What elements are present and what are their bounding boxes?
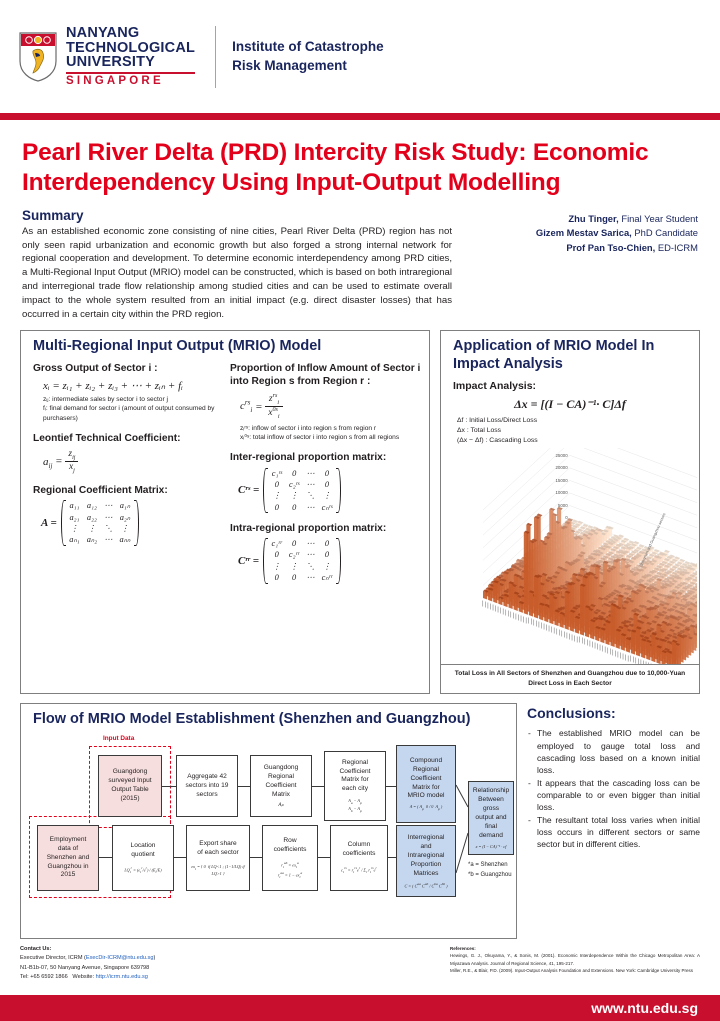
chart-x-tick-label: | <box>515 614 517 620</box>
impact-analysis-subheading: Impact Analysis: <box>441 378 699 392</box>
legend-a: *a = Shenzhen <box>468 861 512 871</box>
chart-y-tick-label: 15000 <box>544 478 568 483</box>
chart-x-tick-label: | <box>530 619 532 625</box>
chart-x-tick-label: | <box>487 603 489 609</box>
author-name: Zhu Tinger, <box>568 213 618 224</box>
chart-x-tick-label: | <box>508 611 510 617</box>
logo-divider-rule <box>66 72 195 74</box>
conclusions-heading: Conclusions: <box>527 705 700 721</box>
legend-b: *b = Guangzhou <box>468 871 512 881</box>
chart-x-tick-label: | <box>622 654 624 660</box>
chart-x-tick-label: | <box>587 640 589 646</box>
chart-x-tick-label: | <box>543 624 545 630</box>
connector <box>388 857 396 858</box>
note-initial-loss: Δf : Initial Loss/Direct Loss <box>457 416 699 426</box>
chart-x-tick-label: | <box>520 616 522 622</box>
regional-matrix: A = a₁₁a₁₂⋯a₁ₙ a₂₁a₂₂⋯a₂ₙ ⋮⋮⋱⋮ aₙ₁aₙ₂⋯aₙ… <box>33 500 224 545</box>
impact-analysis-notes: Δf : Initial Loss/Direct Loss Δx : Total… <box>441 416 699 447</box>
chart-x-tick-label: | <box>497 607 499 613</box>
gross-output-heading: Gross Output of Sector i : <box>33 362 224 375</box>
poster-header: NANYANG TECHNOLOGICAL UNIVERSITY SINGAPO… <box>0 0 720 113</box>
chart-x-tick-label: | <box>615 651 617 657</box>
summary-block: Summary As an established economic zone … <box>22 208 452 322</box>
chart-y-tick-label: 10000 <box>544 490 568 495</box>
chart-x-tick-label: | <box>490 604 492 610</box>
chart-x-tick-label: | <box>523 617 525 623</box>
connector <box>99 857 112 858</box>
chart-x-tick-label: | <box>518 615 520 621</box>
inter-regional-matrix-block: Inter-regional proportion matrix: Cʳˢ = … <box>230 451 421 513</box>
chart-x-tick-label: | <box>632 657 634 663</box>
mrio-model-panel: Multi-Regional Input Output (MRIO) Model… <box>20 330 430 694</box>
chart-y-tick-label: 20000 <box>544 465 568 470</box>
summary-heading: Summary <box>22 208 452 223</box>
ntu-logo: NANYANG TECHNOLOGICAL UNIVERSITY SINGAPO… <box>18 26 195 87</box>
chart-x-tick-label: | <box>528 618 530 624</box>
intra-matrix-label: Cʳʳ = <box>238 555 259 567</box>
leontief-heading: Leontief Technical Coefficient: <box>33 432 224 445</box>
list-item: It appears that the cascading loss can b… <box>527 777 700 813</box>
chart-x-tick-label: | <box>643 661 645 664</box>
references-block: References: Hewings, G. J., Okuyama, Y.,… <box>450 945 700 982</box>
chart-x-tick-label: | <box>556 629 558 635</box>
contact-label: Contact Us: <box>20 945 450 954</box>
contact-line-2: N1-B1b-07, 50 Nanyang Avenue, Singapore … <box>20 964 450 973</box>
chart-x-tick-label: | <box>566 633 568 639</box>
flow-legend: *a = Shenzhen *b = Guangzhou <box>468 861 512 880</box>
chart-x-tick-label: | <box>548 626 550 632</box>
author-role: PhD Candidate <box>632 227 698 238</box>
contact-line-3: Tel: +65 6592 1866 Website: http://icrm.… <box>20 973 450 982</box>
author-role: Final Year Student <box>619 213 698 224</box>
regional-matrix-heading: Regional Coefficient Matrix: <box>33 484 224 497</box>
chart-x-tick-label: | <box>510 612 512 618</box>
flow-box-export-share: Export share of each sector exi = { 0 if… <box>186 825 250 891</box>
gross-output-block: Gross Output of Sector i : xᵢ = zᵢ₁ + zᵢ… <box>33 362 224 423</box>
reference-entry: Miller, R.E., & Blair, P.D. (2009). Inpu… <box>450 967 700 974</box>
intra-matrix-heading: Intra-regional proportion matrix: <box>230 522 421 535</box>
chart-x-tick-label: | <box>536 621 538 627</box>
author-role: ED-ICRM <box>655 242 698 253</box>
author-name: Prof Pan Tso-Chien, <box>566 242 655 253</box>
ntu-wordmark: NANYANG TECHNOLOGICAL UNIVERSITY SINGAPO… <box>66 26 195 87</box>
chart-x-tick-label: | <box>638 659 640 664</box>
chart-x-tick-label: | <box>589 641 591 647</box>
bottom-row: Flow of MRIO Model Establishment (Shenzh… <box>0 694 720 939</box>
institute-name: Institute of Catastrophe Risk Management <box>232 38 384 74</box>
chart-y-tick-label: 0 <box>544 515 568 520</box>
inflow-block: Proportion of Inflow Amount of Sector i … <box>230 362 421 442</box>
application-panel-heading: Application of MRIO Model In Impact Anal… <box>441 331 699 377</box>
flow-panel-heading: Flow of MRIO Model Establishment (Shenzh… <box>21 704 516 733</box>
inflow-note-1: zᵢʳˢ: inflow of sector i into region s f… <box>230 424 421 433</box>
contact-email-link[interactable]: ExecDir-ICRM@ntu.edu.sg <box>86 955 154 961</box>
leontief-equation: aij = zij xj <box>33 449 224 475</box>
logo-line-2: TECHNOLOGICAL <box>66 41 195 56</box>
chart-caption: Total Loss in All Sectors of Shenzhen an… <box>441 664 699 693</box>
inflow-note-2: xᵢ⁰ˢ: total inflow of sector i into regi… <box>230 433 421 442</box>
chart-x-tick-label: | <box>571 635 573 641</box>
chart-x-tick-label: | <box>592 642 594 648</box>
chart-y-tick-label: 5000 <box>544 503 568 508</box>
chart-x-tick-label: | <box>553 628 555 634</box>
chart-x-tick-label: | <box>597 644 599 650</box>
chart-x-tick-label: | <box>581 638 583 644</box>
chart-x-tick-label: | <box>579 637 581 643</box>
chart-x-tick-label: | <box>495 606 497 612</box>
note-total-loss: Δx : Total Loss <box>457 426 699 436</box>
chart-x-tick-label: | <box>485 602 487 608</box>
ntu-crest-icon <box>18 31 58 83</box>
author-name: Gizem Mestav Sarica, <box>536 227 632 238</box>
flow-panel: Flow of MRIO Model Establishment (Shenzh… <box>20 703 517 939</box>
inflow-heading: Proportion of Inflow Amount of Sector i … <box>230 362 421 389</box>
chart-x-tick-label: | <box>635 658 637 664</box>
chart-x-tick-label: | <box>533 620 535 626</box>
chart-x-tick-label: | <box>505 610 507 616</box>
intra-matrix-table: c₁ʳʳ0⋯0 0c₂ʳʳ⋯0 ⋮⋮⋱⋮ 00⋯cₙʳʳ <box>268 538 336 583</box>
chart-x-tick-label: | <box>513 613 515 619</box>
inter-matrix-heading: Inter-regional proportion matrix: <box>230 451 421 464</box>
summary-text: As an established economic zone consisti… <box>22 225 452 322</box>
impact-analysis-equation: Δx = [(I − CA)⁻¹· C]Δf <box>441 392 699 416</box>
contact-website-link[interactable]: http://icrm.ntu.edu.sg <box>96 974 148 980</box>
contact-line-1: Executive Director, ICRM (ExecDir-ICRM@n… <box>20 954 450 963</box>
summary-row: Summary As an established economic zone … <box>0 198 720 322</box>
list-item: The established MRIO model can be employ… <box>527 727 700 775</box>
chart-x-tick-label: | <box>612 650 614 656</box>
main-content: Multi-Regional Input Output (MRIO) Model… <box>0 330 720 694</box>
header-red-bar <box>0 113 720 120</box>
regional-matrix-block: Regional Coefficient Matrix: A = a₁₁a₁₂⋯… <box>33 484 224 546</box>
chart-x-tick-label: | <box>648 663 650 664</box>
chart-x-tick-label: | <box>502 609 504 615</box>
author-entry: Gizem Mestav Sarica, PhD Candidate <box>452 226 698 241</box>
gross-output-note-1: zᵢⱼ: intermediate sales by sector i to s… <box>33 395 224 404</box>
institute-line-2: Risk Management <box>232 57 384 75</box>
institute-line-1: Institute of Catastrophe <box>232 38 384 56</box>
flow-box-row-coefficients: Row coefficients riab = exia riaa = 1 − … <box>262 825 318 891</box>
conclusions-list: The established MRIO model can be employ… <box>527 727 700 850</box>
note-cascading-loss: (Δx − Δf) : Cascading Loss <box>457 436 699 446</box>
list-item: The resultant total loss varies when ini… <box>527 814 700 850</box>
chart-x-tick-label: | <box>604 647 606 653</box>
chart-x-tick-label: | <box>574 636 576 642</box>
logo-line-1: NANYANG <box>66 26 195 41</box>
chart-x-tick-label: | <box>576 637 578 643</box>
chart-x-tick-label: | <box>610 649 612 655</box>
contact-block: Contact Us: Executive Director, ICRM (Ex… <box>20 945 450 982</box>
inflow-equation: crsi = zrsi x0si <box>230 393 421 421</box>
chart-x-tick-label: | <box>625 655 627 661</box>
flow-box-column-coefficients: Column coefficients cirs = rirser / Σr r… <box>330 825 388 891</box>
chart-x-tick-label: | <box>561 631 563 637</box>
ntu-website-url: www.ntu.edu.sg <box>591 1000 698 1016</box>
chart-x-tick-label: | <box>645 662 647 664</box>
chart-x-tick-label: | <box>607 648 609 654</box>
inflow-lhs: crsi <box>240 400 252 412</box>
leontief-block: Leontief Technical Coefficient: aij = zi… <box>33 432 224 475</box>
chart-x-tick-label: | <box>617 652 619 658</box>
conclusions-section: Conclusions: The established MRIO model … <box>527 703 700 851</box>
chart-x-tick-label: | <box>599 645 601 651</box>
chart-y-tick-label: 25000 <box>544 453 568 458</box>
chart-x-tick-label: | <box>538 622 540 628</box>
chart-canvas <box>443 448 697 664</box>
connector <box>318 857 330 858</box>
page-title: Pearl River Delta (PRD) Intercity Risk S… <box>22 138 698 198</box>
flow-diagram: Input Data Guangdong surveyed Input Outp… <box>21 733 516 938</box>
flow-box-location-quotient: Location quotient LQir = (eir/er) / (Ei/… <box>112 825 174 891</box>
connector <box>174 857 186 858</box>
references-label: References: <box>450 945 700 952</box>
chart-x-tick-label: | <box>620 653 622 659</box>
footer-red-bar: www.ntu.edu.sg <box>0 995 720 1021</box>
chart-x-tick-label: | <box>551 627 553 633</box>
poster-footer: Contact Us: Executive Director, ICRM (Ex… <box>0 939 720 982</box>
logo-singapore: SINGAPORE <box>66 76 195 88</box>
mrio-right-column: Proportion of Inflow Amount of Sector i … <box>230 362 421 592</box>
gross-output-note-2: fᵢ: final demand for sector i (amount of… <box>33 404 224 422</box>
author-entry: Prof Pan Tso-Chien, ED-ICRM <box>452 241 698 256</box>
author-entry: Zhu Tinger, Final Year Student <box>452 212 698 227</box>
chart-x-tick-label: | <box>482 601 484 607</box>
chart-x-tick-label: | <box>640 660 642 664</box>
flow-box-employment: Employment data of Shenzhen and Guangzho… <box>37 825 99 891</box>
flow-box-proportion-matrices: Interregional and Intraregional Proporti… <box>396 825 456 897</box>
chart-x-tick-label: | <box>564 632 566 638</box>
chart-x-tick-label: | <box>569 634 571 640</box>
chart-x-tick-label: | <box>627 656 629 662</box>
chart-x-tick-label: | <box>492 605 494 611</box>
application-panel: Application of MRIO Model In Impact Anal… <box>440 330 700 694</box>
mrio-left-column: Gross Output of Sector i : xᵢ = zᵢ₁ + zᵢ… <box>33 362 224 592</box>
authors-list: Zhu Tinger, Final Year Student Gizem Mes… <box>452 208 700 322</box>
chart-x-tick-label: | <box>602 646 604 652</box>
loss-3d-bar-chart: 35000300002500020000150001000050000|||||… <box>443 448 697 664</box>
gross-output-equation: xᵢ = zᵢ₁ + zᵢ₂ + zᵢ₃ + ⋯ + zᵢₙ + fᵢ <box>33 379 224 392</box>
mrio-panel-heading: Multi-Regional Input Output (MRIO) Model <box>21 331 429 360</box>
chart-x-tick-label: | <box>584 639 586 645</box>
leontief-fraction: zij xj <box>65 449 78 475</box>
reference-entry: Hewings, G. J., Okuyama, Y., & Sonis, M.… <box>450 952 700 966</box>
title-section: Pearl River Delta (PRD) Intercity Risk S… <box>0 120 720 198</box>
regional-matrix-label: A = <box>41 517 57 529</box>
chart-x-tick-label: | <box>541 623 543 629</box>
leontief-lhs: aij <box>43 456 52 468</box>
inter-regional-matrix: Cʳˢ = c₁ʳˢ0⋯0 0c₂ʳˢ⋯0 ⋮⋮⋱⋮ 00⋯cₙʳˢ <box>230 468 421 513</box>
logo-line-3: UNIVERSITY <box>66 55 195 70</box>
inter-matrix-table: c₁ʳˢ0⋯0 0c₂ʳˢ⋯0 ⋮⋮⋱⋮ 00⋯cₙʳˢ <box>268 468 336 513</box>
regional-matrix-table: a₁₁a₁₂⋯a₁ₙ a₂₁a₂₂⋯a₂ₙ ⋮⋮⋱⋮ aₙ₁aₙ₂⋯aₙₙ <box>66 500 134 545</box>
chart-x-tick-label: | <box>500 608 502 614</box>
intra-regional-matrix: Cʳʳ = c₁ʳʳ0⋯0 0c₂ʳʳ⋯0 ⋮⋮⋱⋮ 00⋯cₙʳʳ <box>230 538 421 583</box>
chart-x-tick-label: | <box>594 643 596 649</box>
inflow-fraction: zrsi x0si <box>265 393 282 421</box>
chart-x-tick-label: | <box>559 630 561 636</box>
inter-matrix-label: Cʳˢ = <box>238 484 259 496</box>
connector <box>250 857 262 858</box>
chart-x-tick-label: | <box>546 625 548 631</box>
intra-regional-matrix-block: Intra-regional proportion matrix: Cʳʳ = … <box>230 522 421 584</box>
header-vertical-divider <box>215 26 216 88</box>
chart-x-tick-label: | <box>630 656 632 662</box>
chart-x-tick-label: | <box>525 618 527 624</box>
